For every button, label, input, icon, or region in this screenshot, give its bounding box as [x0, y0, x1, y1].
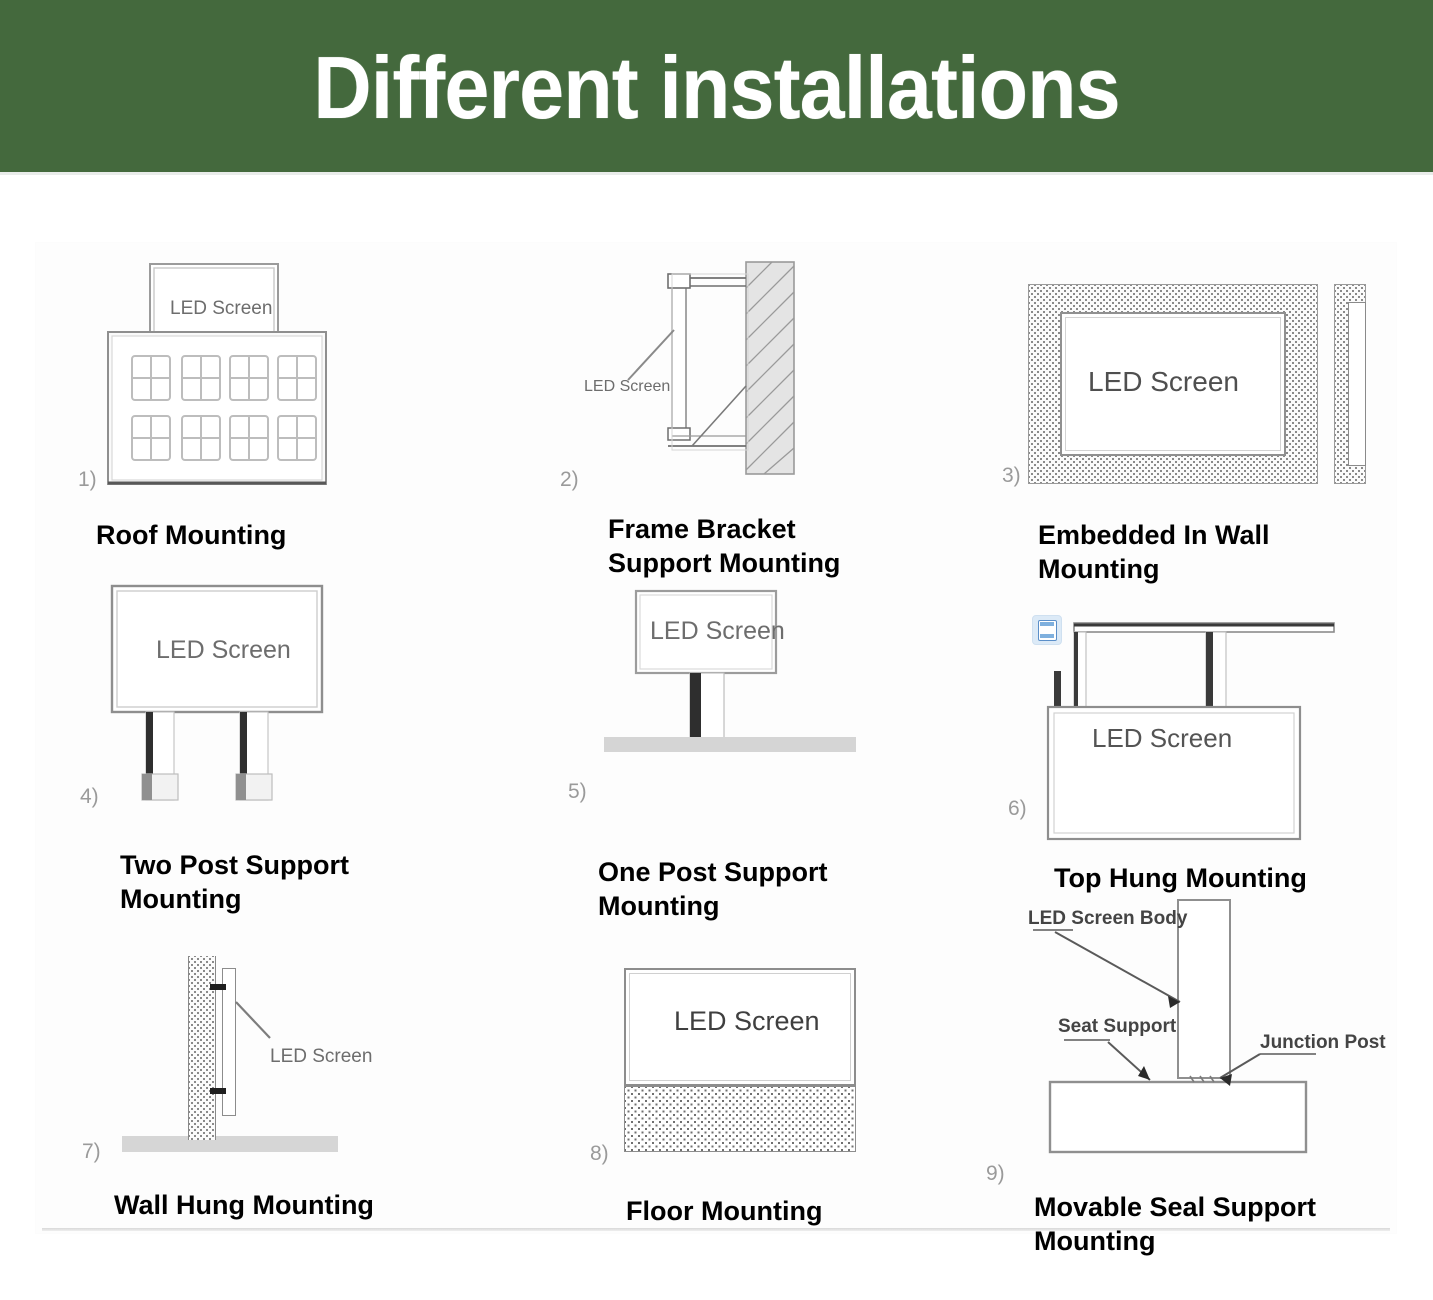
figure-caption: Roof Mounting: [96, 518, 476, 552]
figure-caption: Embedded In Wall Mounting: [1038, 518, 1428, 586]
diagram-cell-movable-seal: LED Screen Body Seat Support Junction Po…: [998, 890, 1433, 1290]
diagram-cell-roof-mounting: LED Screen 1) Roof Mounting: [78, 258, 498, 558]
figure-caption: Frame Bracket Support Mounting: [608, 512, 998, 580]
screen-label: LED Screen: [674, 1006, 820, 1037]
figure-index: 3): [1002, 464, 1021, 488]
diagram-cell-embedded-wall: LED Screen 3) Embedded In Wall Mounting: [1012, 268, 1432, 588]
diagram-cell-floor-mounting: LED Screen 8) Floor Mounting: [618, 962, 1038, 1262]
floor-base: [624, 1086, 856, 1152]
diagram-cell-top-hung: LED Screen 6) Top Hung Mounting: [1012, 605, 1432, 925]
screen-label: LED Screen: [156, 636, 291, 665]
diagram-cell-frame-bracket: LED Screen 2) Frame Bracket Support Moun…: [560, 260, 990, 570]
roof-mounting-figure: [78, 258, 378, 488]
wall-hung-leader: [88, 940, 428, 1170]
screen-label: LED Screen: [1092, 723, 1232, 754]
figure-caption: Two Post Support Mounting: [120, 848, 520, 916]
top-hung-figure: [1046, 611, 1376, 821]
figure-index: 7): [82, 1140, 101, 1164]
two-post-figure: [88, 580, 388, 820]
figure-caption: Movable Seal Support Mounting: [1034, 1190, 1433, 1258]
frame-bracket-figure: [560, 260, 860, 490]
figure-index: 2): [560, 468, 579, 492]
figure-caption: Floor Mounting: [626, 1194, 1026, 1228]
figure-index: 8): [590, 1142, 609, 1166]
figure-index: 4): [80, 785, 99, 809]
figure-caption: One Post Support Mounting: [598, 855, 998, 923]
figure-index: 1): [78, 468, 97, 492]
figure-index: 6): [1008, 797, 1027, 821]
page-title: Different installations: [57, 0, 1375, 175]
screen-label: LED Screen: [650, 617, 785, 646]
annotation-junction-post: Junction Post: [1260, 1032, 1386, 1054]
figure-index: 5): [568, 780, 587, 804]
header-banner: Different installations: [0, 0, 1433, 175]
screen-side-view: [1348, 302, 1366, 466]
annotation-led-screen-body: LED Screen Body: [1028, 908, 1187, 930]
annotation-seat-support: Seat Support: [1058, 1016, 1176, 1038]
screen-label: LED Screen: [170, 298, 272, 320]
diagram-cell-one-post: LED Screen 5) One Post Support Mounting: [570, 585, 1000, 915]
diagram-cell-two-post: LED Screen 4) Two Post Support Mounting: [88, 580, 508, 910]
diagram-cell-wall-hung: LED Screen 7) Wall Hung Mounting: [88, 940, 508, 1250]
screen-label: LED Screen: [1088, 366, 1239, 398]
figure-caption: Wall Hung Mounting: [114, 1188, 514, 1222]
screen-label: LED Screen: [584, 378, 670, 396]
figure-index: 9): [986, 1162, 1005, 1186]
screen-label: LED Screen: [270, 1046, 372, 1068]
